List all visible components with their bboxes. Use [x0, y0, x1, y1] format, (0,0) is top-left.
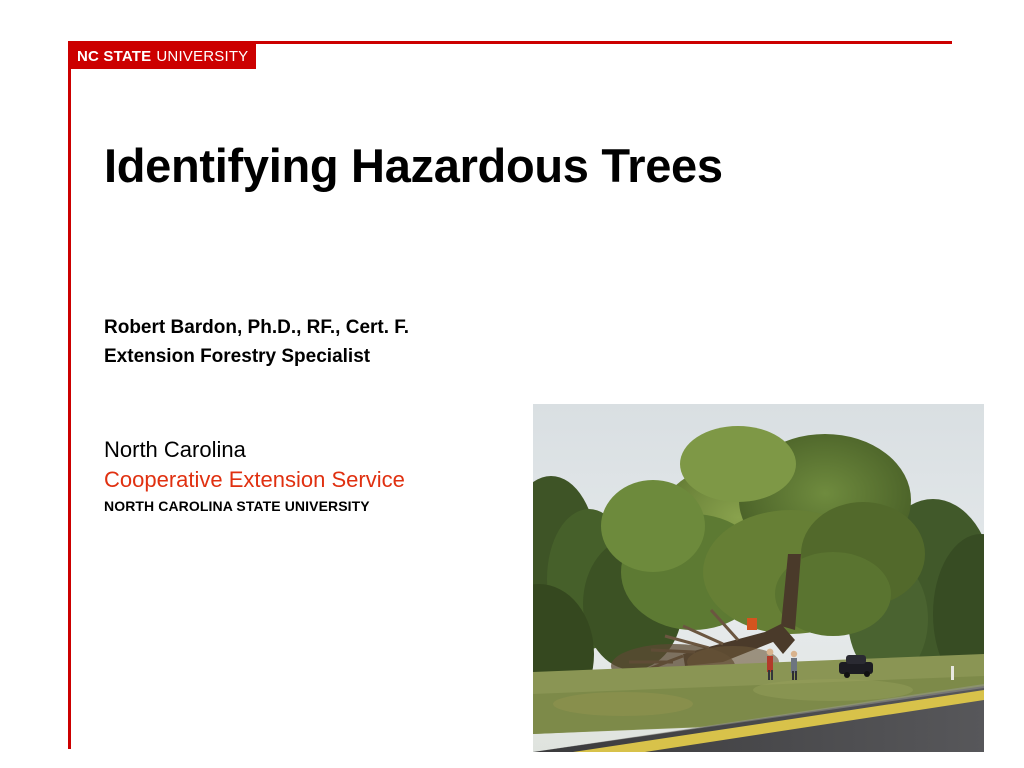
presenter-name: Robert Bardon, Ph.D., RF., Cert. F.: [104, 313, 534, 342]
hazardous-tree-photo: [533, 404, 984, 752]
presenter-block: Robert Bardon, Ph.D., RF., Cert. F. Exte…: [104, 313, 534, 372]
presenter-role: Extension Forestry Specialist: [104, 342, 534, 371]
slide-canvas: NC STATE UNIVERSITY Identifying Hazardou…: [0, 0, 1024, 768]
affiliation-program: Cooperative Extension Service: [104, 465, 534, 495]
left-divider-rule: [68, 41, 71, 749]
affiliation-state: North Carolina: [104, 435, 534, 465]
affiliation-block: North Carolina Cooperative Extension Ser…: [104, 435, 534, 517]
logo-primary-text: NC STATE: [77, 48, 151, 65]
nc-state-university-logo: NC STATE UNIVERSITY: [68, 44, 256, 69]
slide-title: Identifying Hazardous Trees: [104, 140, 944, 193]
logo-secondary-text: UNIVERSITY: [156, 48, 248, 65]
affiliation-university: NORTH CAROLINA STATE UNIVERSITY: [104, 496, 534, 517]
